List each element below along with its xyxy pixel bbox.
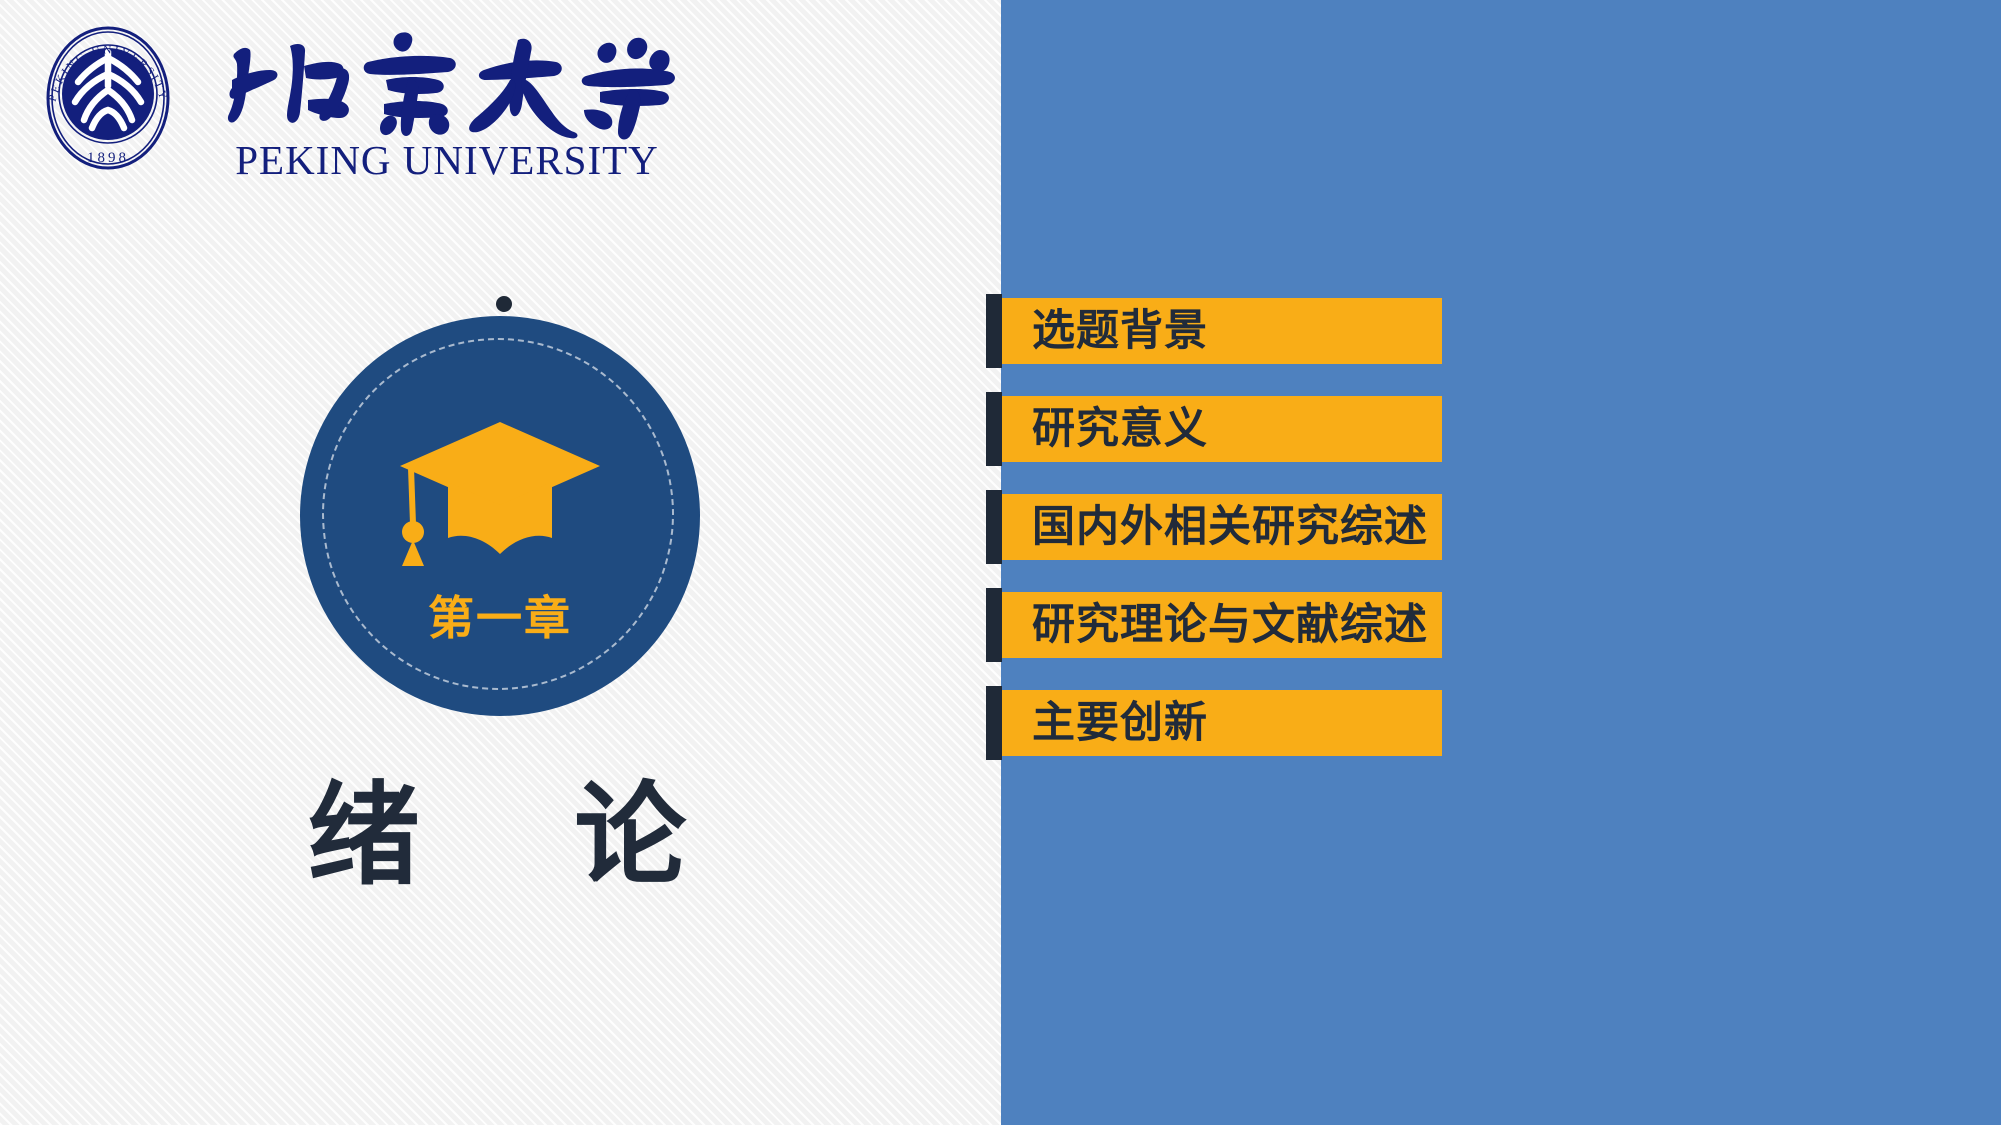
chapter-label: 第一章 (300, 590, 700, 646)
agenda-item[interactable]: 主要创新 (986, 690, 1706, 756)
section-title: 绪 论 (150, 770, 850, 902)
agenda-item-tab (986, 588, 1002, 662)
agenda-item[interactable]: 国内外相关研究综述 (986, 494, 1706, 560)
agenda-item-tab (986, 490, 1002, 564)
presentation-slide: PEKING UNIVERSITY 1898 (0, 0, 2001, 1125)
agenda-item-label: 国内外相关研究综述 (1032, 494, 1428, 560)
agenda-item-label: 研究意义 (1032, 396, 1208, 462)
agenda-item-label: 主要创新 (1032, 690, 1208, 756)
agenda-item[interactable]: 选题背景 (986, 298, 1706, 364)
chinese-university-name-calligraphy (212, 18, 682, 140)
agenda-item-tab (986, 294, 1002, 368)
english-university-name: PEKING UNIVERSITY (212, 136, 682, 184)
university-logo: PEKING UNIVERSITY 1898 (34, 18, 684, 188)
agenda-list: 选题背景 研究意义 国内外相关研究综述 研究理论与文献综述 主要创新 (986, 298, 1706, 788)
graduation-cap-icon (396, 420, 604, 570)
logo-wordmark: PEKING UNIVERSITY (212, 18, 682, 186)
agenda-item[interactable]: 研究理论与文献综述 (986, 592, 1706, 658)
agenda-item-label: 选题背景 (1032, 298, 1208, 364)
chapter-medallion: 第一章 (300, 316, 700, 716)
agenda-item[interactable]: 研究意义 (986, 396, 1706, 462)
seal-year-text: 1898 (87, 150, 129, 166)
peking-university-seal-icon: PEKING UNIVERSITY 1898 (34, 24, 182, 172)
agenda-item-tab (986, 392, 1002, 466)
agenda-item-label: 研究理论与文献综述 (1032, 592, 1428, 658)
agenda-item-tab (986, 686, 1002, 760)
chapter-marker-dot-icon (496, 296, 512, 312)
